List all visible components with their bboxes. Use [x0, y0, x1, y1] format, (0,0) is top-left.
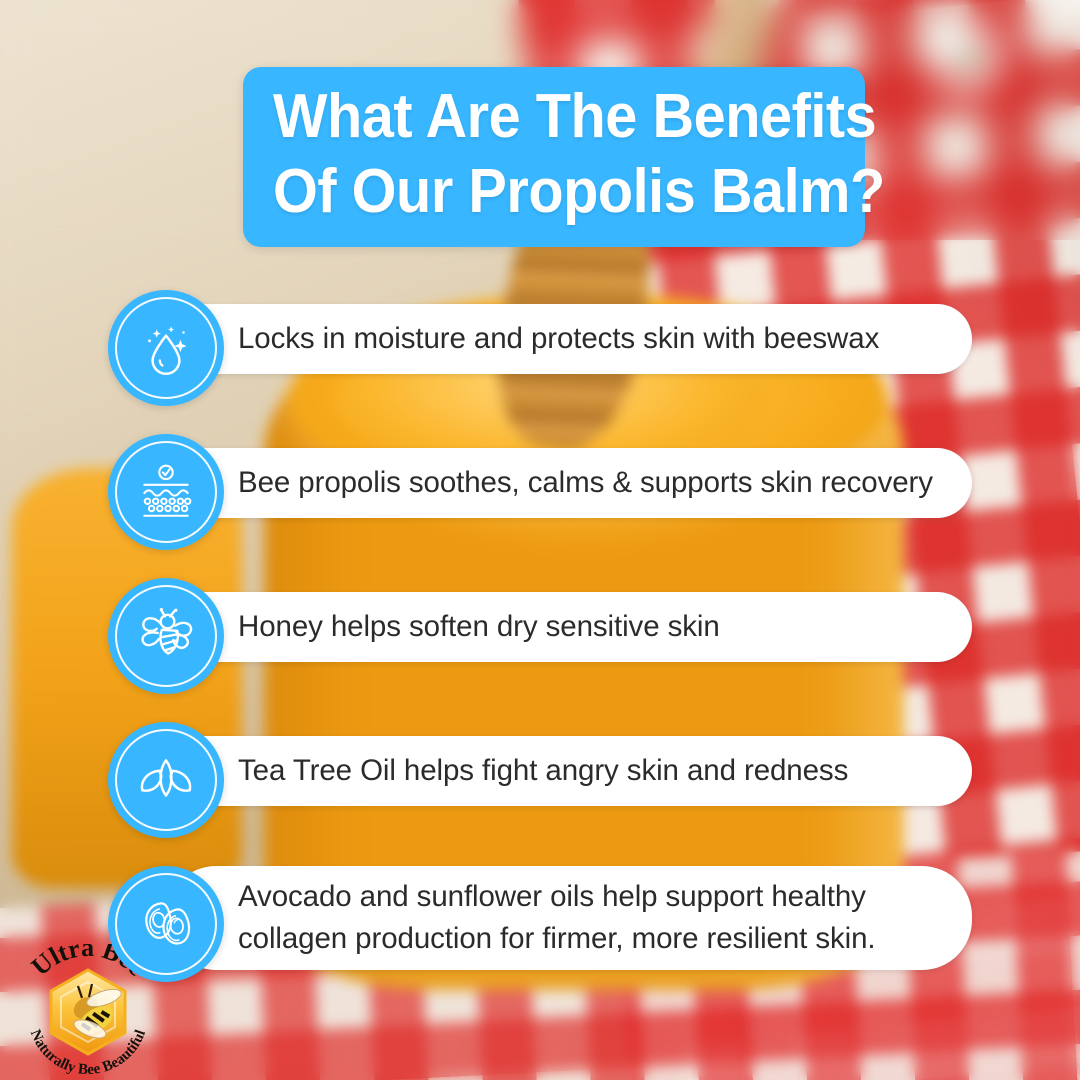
benefits-list: Locks in moisture and protects skin with…: [0, 286, 1080, 1012]
benefit-pill: Bee propolis soothes, calms & supports s…: [166, 448, 972, 518]
benefit-pill: Locks in moisture and protects skin with…: [166, 304, 972, 374]
benefit-text: Locks in moisture and protects skin with…: [238, 318, 879, 360]
benefit-row: Honey helps soften dry sensitive skin: [0, 574, 1080, 718]
skin-layers-check-icon: [108, 434, 224, 550]
page-title-line-1: What Are The Benefits: [273, 85, 799, 148]
page-title-line-2: Of Our Propolis Balm?: [273, 160, 799, 223]
tea-tree-leaves-icon: [108, 722, 224, 838]
water-droplet-sparkle-icon: [108, 290, 224, 406]
benefit-text-line-2: collagen production for firmer, more res…: [238, 918, 876, 960]
poster-canvas: What Are The Benefits Of Our Propolis Ba…: [0, 0, 1080, 1080]
title-card: What Are The Benefits Of Our Propolis Ba…: [243, 67, 865, 247]
benefit-pill: Honey helps soften dry sensitive skin: [166, 592, 972, 662]
avocado-halves-icon: [108, 866, 224, 982]
benefit-text: Tea Tree Oil helps fight angry skin and …: [238, 750, 848, 792]
benefit-row: Tea Tree Oil helps fight angry skin and …: [0, 718, 1080, 862]
benefit-pill: Tea Tree Oil helps fight angry skin and …: [166, 736, 972, 806]
benefit-text-line-1: Avocado and sunflower oils help support …: [238, 876, 876, 918]
bee-icon: [108, 578, 224, 694]
benefit-text: Bee propolis soothes, calms & supports s…: [238, 462, 933, 504]
benefit-pill: Avocado and sunflower oils help support …: [166, 866, 972, 970]
benefit-row: Locks in moisture and protects skin with…: [0, 286, 1080, 430]
benefit-text: Honey helps soften dry sensitive skin: [238, 606, 720, 648]
benefit-row: Bee propolis soothes, calms & supports s…: [0, 430, 1080, 574]
